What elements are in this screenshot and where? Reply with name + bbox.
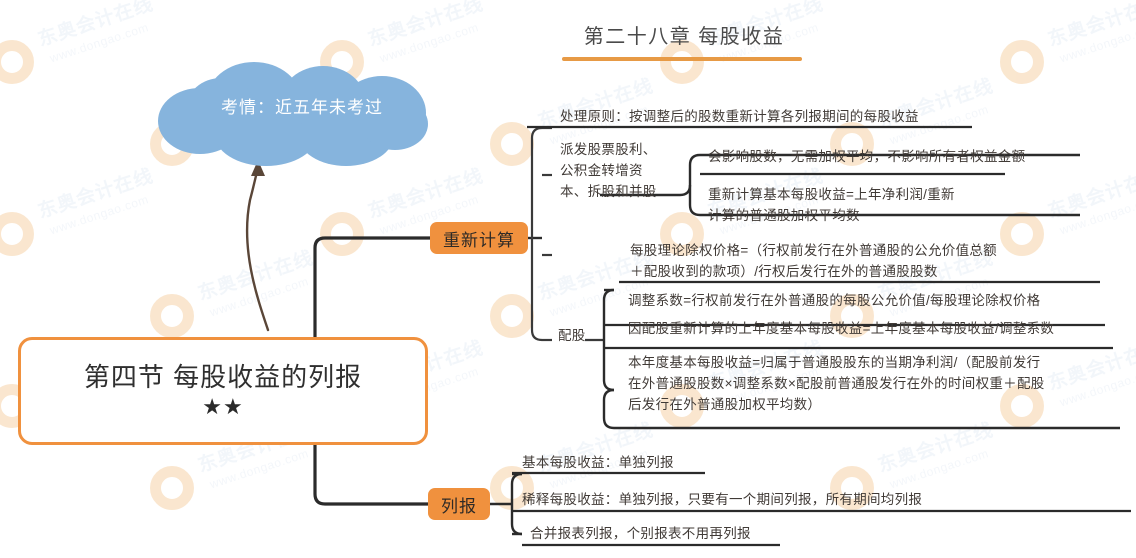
leaf-affects-shares: 会影响股数，无需加权平均，不影响所有者权益金额 bbox=[708, 146, 1088, 167]
leaf-prior-year-basic-eps: 因配股重新计算的上年度基本每股收益=上年度基本每股收益/调整系数 bbox=[628, 318, 1114, 339]
leaf-handling-principle: 处理原则：按调整后的股数重新计算各列报期间的每股收益 bbox=[560, 106, 980, 127]
arrow-to-cloud bbox=[247, 168, 268, 330]
chapter-title: 第二十八章 每股收益 bbox=[556, 20, 812, 49]
root-title: 第四节 每股收益的列报 bbox=[84, 363, 362, 393]
root-node[interactable]: 第四节 每股收益的列报 ★★ bbox=[18, 337, 428, 445]
wire-rights-spine bbox=[604, 290, 614, 390]
leaf-diluted-eps-presentation: 稀释每股收益：单独列报，只要有一个期间列报，所有期间均列报 bbox=[522, 489, 1042, 510]
subgroup-label-stock-dividend: 派发股票股利、 公积金转增资 本、拆股和并股 bbox=[560, 139, 690, 202]
wire-recalc-spine bbox=[532, 128, 542, 340]
root-star-rating: ★★ bbox=[202, 395, 243, 419]
branch-node-recalculate[interactable]: 重新计算 bbox=[430, 222, 528, 254]
mindmap-canvas: 东奥会计在线 www.dongao.com 东奥会计在线 www.dongao.… bbox=[0, 0, 1136, 558]
leaf-basic-eps-presentation: 基本每股收益：单独列报 bbox=[522, 452, 772, 473]
leaf-consolidated-presentation: 合并报表列报，个别报表不用再列报 bbox=[530, 523, 850, 544]
chapter-title-underline bbox=[562, 57, 802, 61]
branch-node-presentation[interactable]: 列报 bbox=[428, 488, 490, 520]
leaf-theoretical-ex-rights-price: 每股理论除权价格=（行权前发行在外普通股的公允价值总额 ＋配股收到的款项）/行权… bbox=[630, 240, 1106, 282]
exam-note-cloud: 考情：近五年未考过 bbox=[152, 62, 452, 170]
wire-present-spine bbox=[512, 474, 522, 534]
subgroup-label-rights-issue: 配股 bbox=[558, 325, 604, 346]
cloud-label: 考情：近五年未考过 bbox=[152, 62, 452, 170]
leaf-recalc-basic-eps: 重新计算基本每股收益=上年净利润/重新 计算的普通股加权平均数 bbox=[708, 184, 1028, 226]
leaf-adjustment-factor: 调整系数=行权前发行在外普通股的每股公允价值/每股理论除权价格 bbox=[628, 290, 1106, 311]
leaf-current-year-basic-eps: 本年度基本每股收益=归属于普通股股东的当期净利润/（配股前发行 在外普通股股数×… bbox=[628, 352, 1116, 415]
